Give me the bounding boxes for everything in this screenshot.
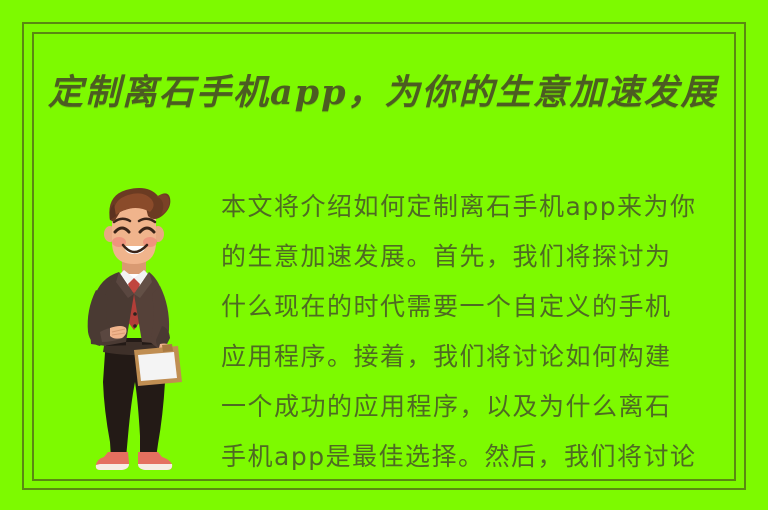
body-line: 手机app是最佳选择。然后，我们将讨论 — [221, 432, 741, 482]
body-paragraph: 本文将介绍如何定制离石手机app来为你 的生意加速发展。首先，我们将探讨为 什么… — [221, 182, 741, 482]
page-title: 定制离石手机app，为你的生意加速发展 — [48, 58, 738, 120]
shoes-shape — [96, 452, 172, 470]
body-line: 应用程序。接着，我们将讨论如何构建 — [221, 332, 741, 382]
body-line: 一个成功的应用程序，以及为什么离石 — [221, 382, 741, 432]
body-line: 本文将介绍如何定制离石手机app来为你 — [221, 182, 741, 232]
poster-canvas: 定制离石手机app，为你的生意加速发展 本文将介绍如何定制离石手机app来为你 … — [0, 0, 768, 510]
body-line: 什么现在的时代需要一个自定义的手机 — [221, 282, 741, 332]
businessman-illustration — [70, 186, 200, 478]
body-line: 的生意加速发展。首先，我们将探讨为 — [221, 232, 741, 282]
clipboard-icon — [134, 344, 182, 386]
